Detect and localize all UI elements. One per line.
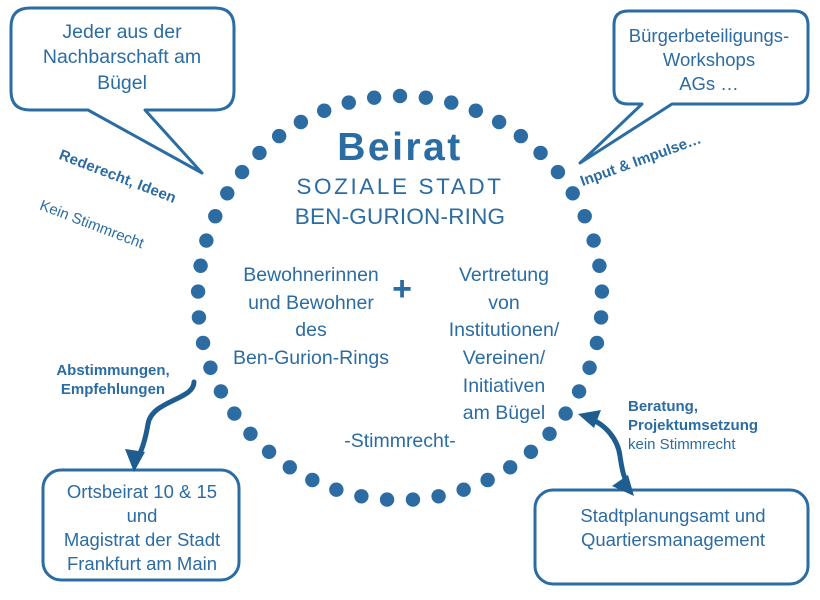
ring-dot [305, 473, 319, 487]
ring-dot [566, 186, 580, 200]
ring-dot [595, 284, 609, 298]
ring-dot [480, 473, 494, 487]
ring-dot [192, 310, 206, 324]
ring-dot [252, 146, 266, 160]
ring-dot [294, 115, 308, 129]
ring-dot [542, 427, 556, 441]
speech-bubble-top-right-shape [580, 11, 808, 163]
ring-dot [586, 233, 600, 247]
ring-dot [367, 90, 381, 104]
ring-dot [199, 233, 213, 247]
ring-dot [262, 445, 276, 459]
arrow-bottom-right [578, 410, 634, 496]
ring-dot [283, 460, 297, 474]
speech-bubble-top-left [11, 8, 234, 173]
ring-dot [503, 460, 517, 474]
box-bottom-left-shape [43, 470, 239, 580]
ring-dot [444, 95, 458, 109]
speech-bubble-top-left-shape [11, 8, 234, 173]
diagram-canvas: Jeder aus der Nachbarschaft am Bügel Bür… [0, 0, 820, 600]
ring-dot [203, 361, 217, 375]
ring-dot [220, 186, 234, 200]
ring-dot [214, 384, 228, 398]
arrow-bottom-left-path [136, 382, 194, 462]
ring-dot [393, 89, 407, 103]
ring-dot [243, 427, 257, 441]
ring-dot [235, 165, 249, 179]
arrow-bottom-left [125, 382, 194, 472]
ring-dot [551, 165, 565, 179]
ring-dot [456, 483, 470, 497]
ring-dot [380, 492, 394, 506]
ring-dot [469, 104, 483, 118]
ring-dot [582, 361, 596, 375]
ring-dot [590, 336, 604, 350]
box-bottom-left [43, 470, 239, 580]
ring-dot [578, 209, 592, 223]
speech-bubble-top-right [580, 11, 808, 163]
ring-dot [492, 115, 506, 129]
ring-dot [342, 95, 356, 109]
arrow-bottom-right-path [588, 418, 628, 486]
ring-of-dots [191, 89, 609, 507]
ring-dot [594, 310, 608, 324]
ring-dot [419, 90, 433, 104]
ring-dot [191, 284, 205, 298]
ring-dot [592, 259, 606, 273]
ring-dot [193, 259, 207, 273]
ring-dot [329, 483, 343, 497]
ring-dot [317, 104, 331, 118]
ring-dot [431, 489, 445, 503]
ring-dot [524, 445, 538, 459]
ring-dot [227, 406, 241, 420]
ring-dot [406, 492, 420, 506]
ring-dot [196, 336, 210, 350]
ring-dot [514, 129, 528, 143]
ring-dot [272, 129, 286, 143]
ring-dot [558, 406, 572, 420]
ring-dot [572, 384, 586, 398]
diagram-vector-layer [0, 0, 820, 600]
ring-dot [533, 146, 547, 160]
box-bottom-right-shape [535, 490, 808, 584]
ring-dot [354, 489, 368, 503]
ring-dot [208, 209, 222, 223]
box-bottom-right [535, 490, 808, 584]
